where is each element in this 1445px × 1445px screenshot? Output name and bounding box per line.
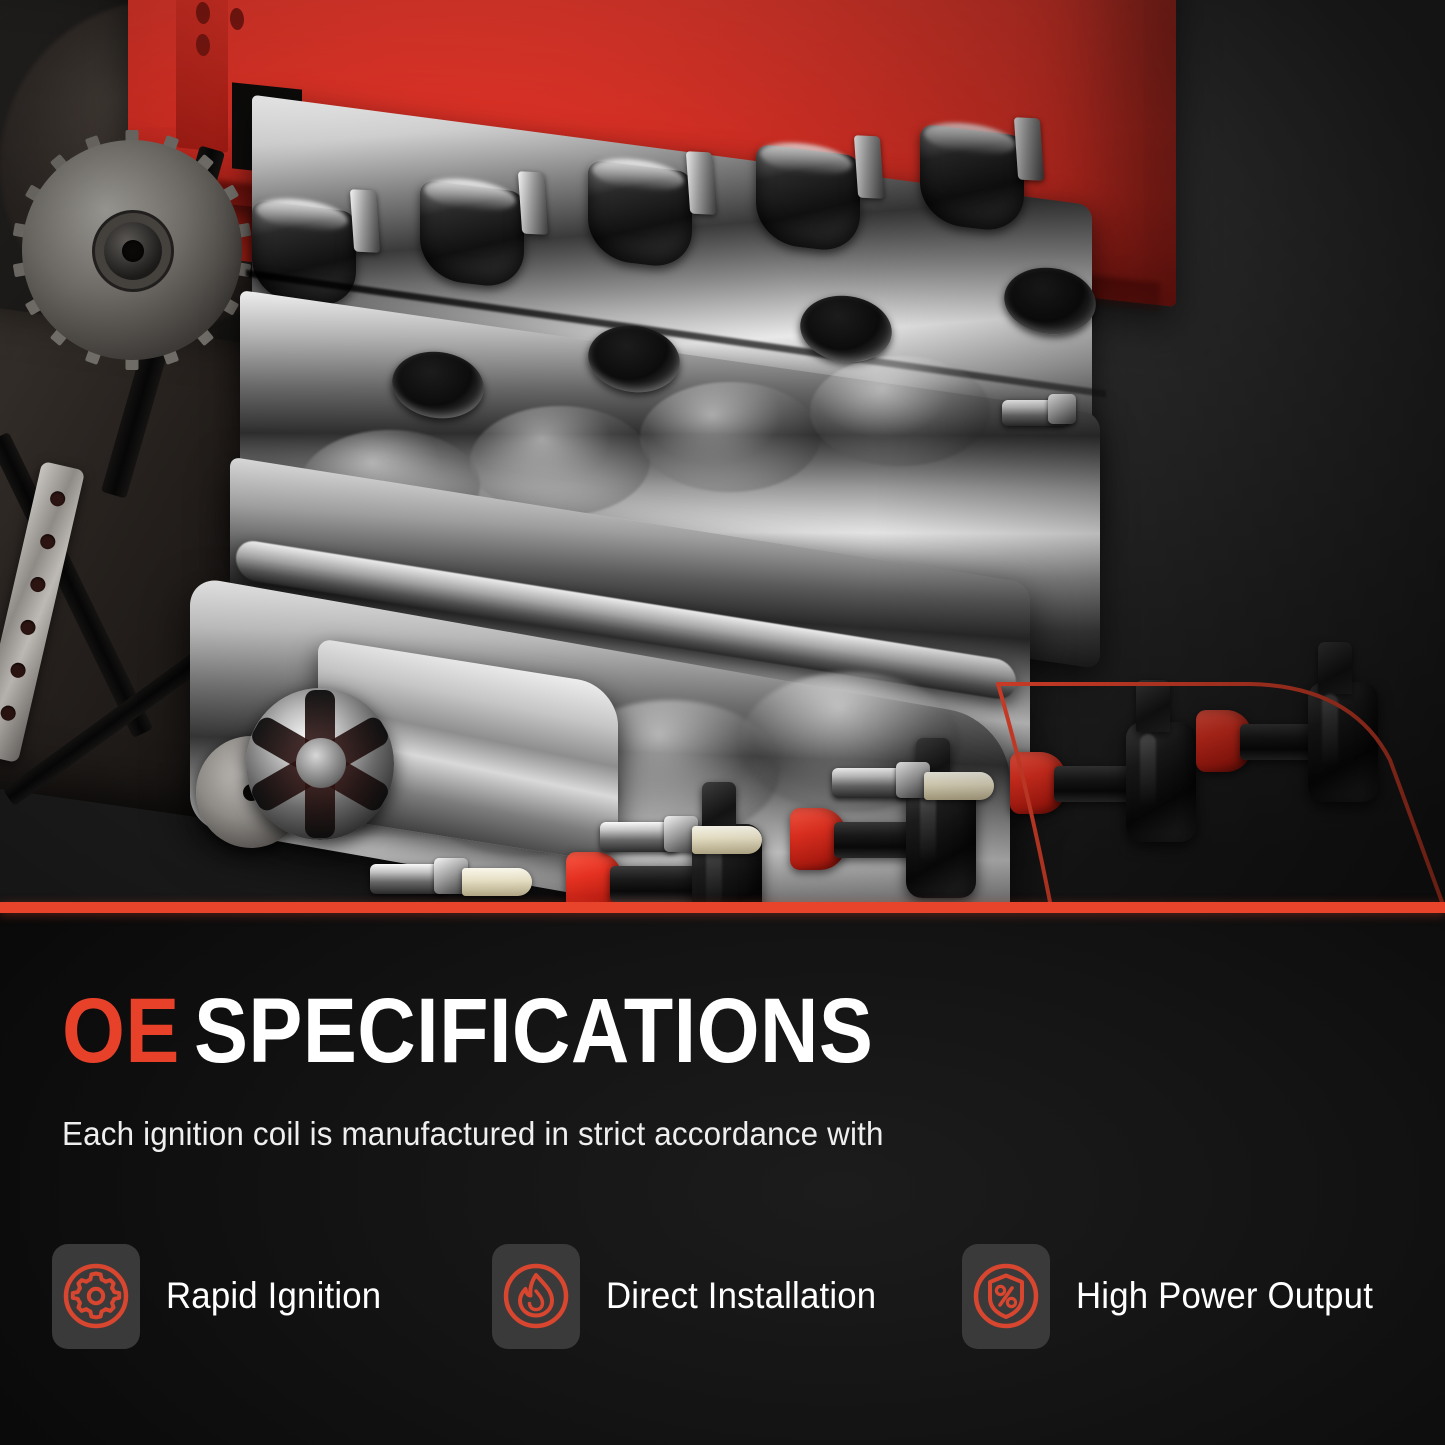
chrome-pulley-hub <box>296 738 346 788</box>
subtitle: Each ignition coil is manufactured in st… <box>62 1115 884 1153</box>
feature-icon-box <box>52 1244 140 1349</box>
coil-connector-neck <box>1318 642 1352 694</box>
feature-label: High Power Output <box>1076 1275 1373 1317</box>
headline-highlight: OE <box>62 980 180 1082</box>
feature-list: Rapid Ignition Direct Installation <box>52 1236 1422 1356</box>
coil-connector-head <box>1308 682 1378 802</box>
feature-high-power-output: High Power Output <box>962 1241 1422 1351</box>
headline-rest: SPECIFICATIONS <box>194 980 873 1082</box>
orange-divider <box>0 902 1445 913</box>
shield-percent-in-circle-icon <box>971 1261 1041 1331</box>
rocker-clip <box>518 171 548 235</box>
feature-direct-installation: Direct Installation <box>492 1241 962 1351</box>
feature-icon-box <box>492 1244 580 1349</box>
product-marketing-image: OESPECIFICATIONS Each ignition coil is m… <box>0 0 1445 1445</box>
intake-bolt-hole <box>196 33 210 56</box>
gear-in-circle-icon <box>61 1261 131 1331</box>
spark-plug-hex <box>1048 394 1076 424</box>
intake-bolt-hole <box>230 7 244 30</box>
intake-bolt-hole <box>196 1 210 24</box>
valve-cover-scallop <box>810 356 990 466</box>
flame-in-circle-icon <box>501 1261 571 1331</box>
bracket-hole <box>0 704 17 722</box>
feature-label: Rapid Ignition <box>166 1275 381 1317</box>
bracket-hole <box>19 618 37 636</box>
rocker-clip <box>350 189 380 253</box>
bracket-hole <box>9 661 27 679</box>
ceramic-insulator <box>924 772 994 800</box>
coil-highlight <box>1322 694 1338 768</box>
feature-label: Direct Installation <box>606 1275 876 1317</box>
hero-product-photo <box>0 0 1445 902</box>
ceramic-insulator <box>462 868 532 896</box>
feature-rapid-ignition: Rapid Ignition <box>52 1241 492 1351</box>
coil-connector-head <box>1126 722 1196 842</box>
bracket-hole <box>39 533 57 551</box>
rocker-clip <box>686 151 716 215</box>
rocker-clip <box>1014 117 1044 181</box>
bracket-hole <box>49 490 67 508</box>
feature-icon-box <box>962 1244 1050 1349</box>
page-title: OESPECIFICATIONS <box>62 985 873 1077</box>
timing-sprocket-bolt <box>122 240 144 262</box>
coil-highlight <box>920 790 936 864</box>
coil-highlight <box>1140 734 1156 808</box>
ceramic-insulator <box>692 826 762 854</box>
coil-connector-neck <box>1136 680 1170 732</box>
valve-cover-scallop <box>640 382 820 492</box>
rocker-clip <box>854 135 884 199</box>
bracket-hole <box>29 576 47 594</box>
